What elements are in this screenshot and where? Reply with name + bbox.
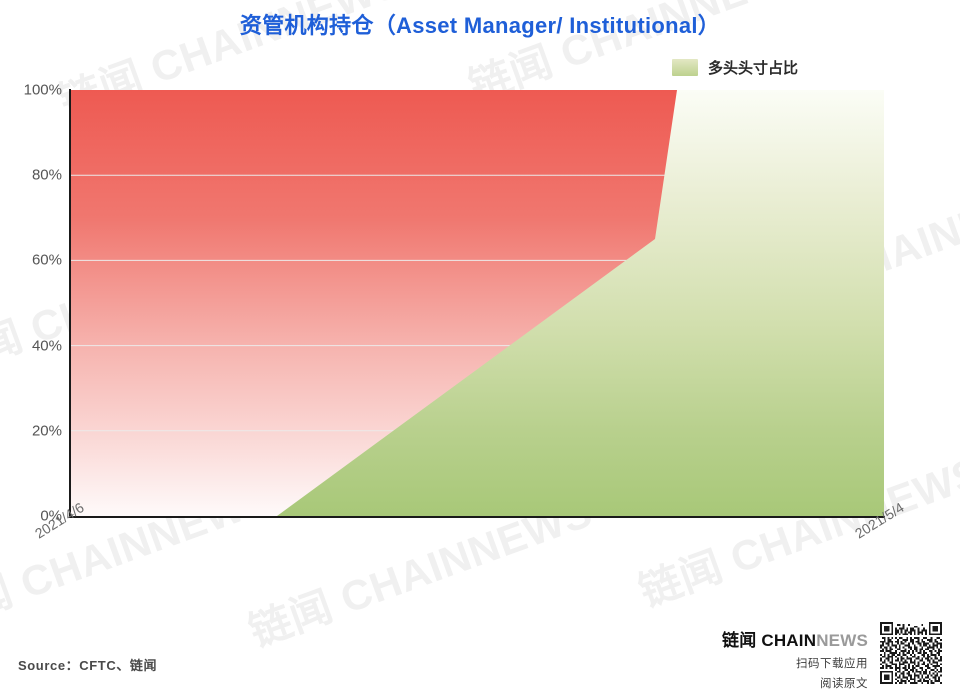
source-note: Source：CFTC、链闻 <box>18 655 157 674</box>
brand-sub-download: 扫码下载应用 <box>722 655 868 671</box>
brand-name-en-light: NEWS <box>816 631 868 650</box>
brand-name-en-dark: CHAIN <box>761 631 816 650</box>
x-axis-labels: 2021/4/6 2021/5/4 <box>0 0 960 698</box>
x-tick-start: 2021/4/6 <box>32 499 87 541</box>
x-tick-end: 2021/5/4 <box>852 499 907 541</box>
brand-text: 链闻 CHAINNEWS 扫码下载应用 阅读原文 <box>722 622 868 691</box>
brand-block: 链闻 CHAINNEWS 扫码下载应用 阅读原文 <box>722 622 942 691</box>
qr-code-icon[interactable] <box>880 622 942 684</box>
brand-name: 链闻 CHAINNEWS <box>722 626 868 651</box>
brand-name-cn: 链闻 <box>722 631 756 650</box>
brand-sub-readmore[interactable]: 阅读原文 <box>722 675 868 691</box>
